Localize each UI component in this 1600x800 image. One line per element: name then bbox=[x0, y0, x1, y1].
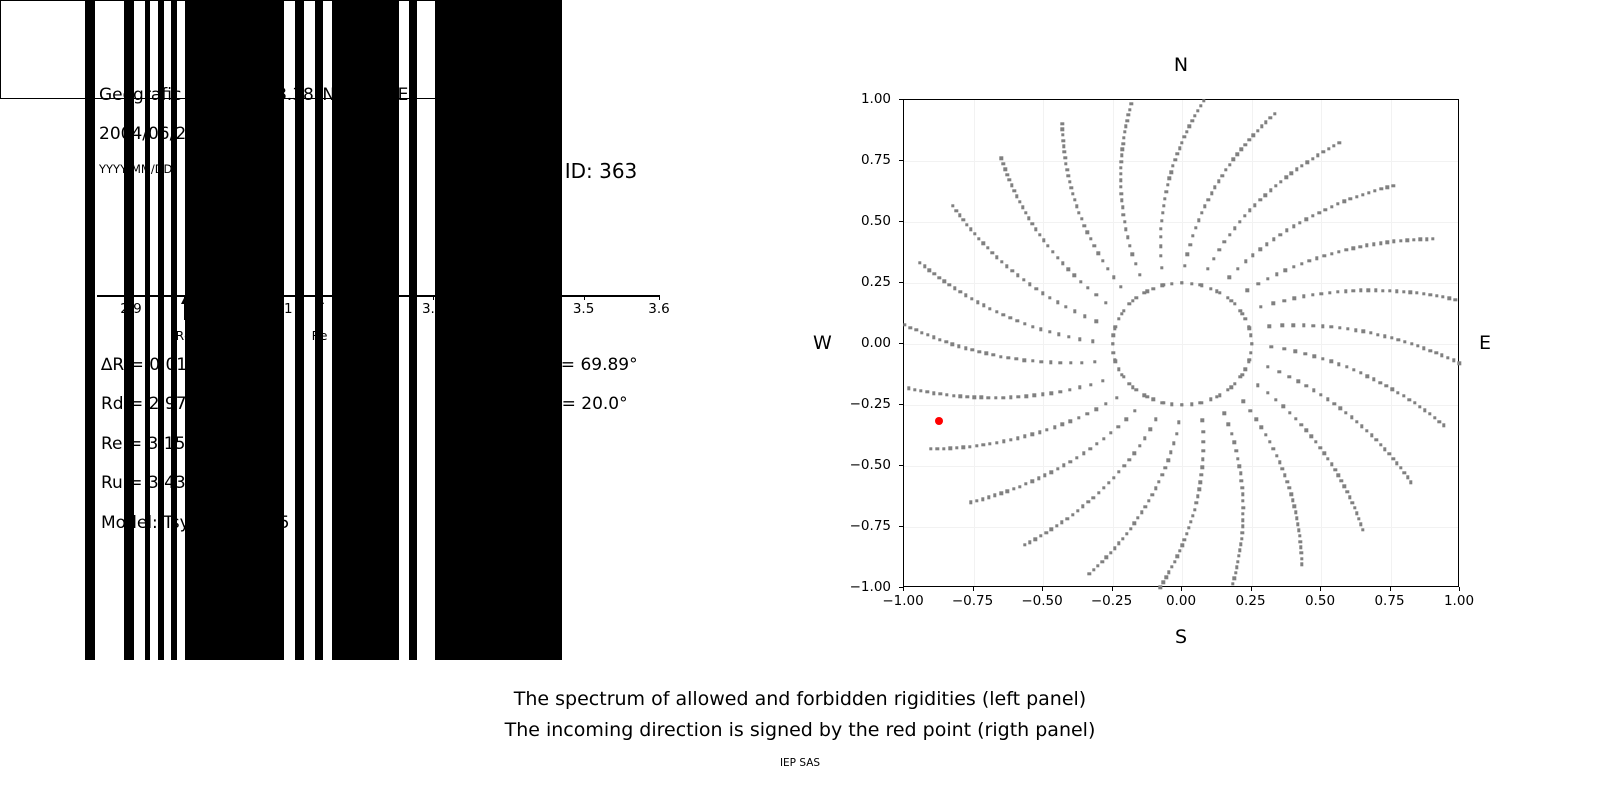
scatter-point bbox=[1199, 104, 1202, 107]
scatter-point bbox=[1031, 359, 1034, 362]
scatter-point bbox=[1202, 99, 1205, 102]
scatter-point bbox=[1318, 446, 1321, 449]
scatter-point bbox=[1041, 393, 1044, 396]
scatter-point bbox=[1115, 396, 1118, 399]
spectrum-tick bbox=[433, 295, 434, 300]
incoming-direction-point bbox=[935, 417, 943, 425]
scatter-point bbox=[1431, 237, 1434, 240]
scatter-point bbox=[1319, 292, 1322, 295]
scatter-point bbox=[1094, 293, 1097, 296]
scatter-point bbox=[1066, 517, 1069, 520]
scatter-point bbox=[949, 447, 952, 450]
scatter-point bbox=[1180, 281, 1183, 284]
scatter-point bbox=[1197, 218, 1200, 221]
caption-line-1: The spectrum of allowed and forbidden ri… bbox=[0, 688, 1600, 710]
scatter-point bbox=[1000, 157, 1003, 160]
scatter-point bbox=[1171, 164, 1174, 167]
scatter-point bbox=[1068, 388, 1071, 391]
scatter-point bbox=[918, 261, 921, 264]
scatter-point bbox=[1168, 177, 1171, 180]
parameter-text: θ = 69.89° bbox=[545, 355, 638, 375]
scatter-point bbox=[1395, 290, 1398, 293]
scatter-point bbox=[1006, 490, 1009, 493]
scatter-point bbox=[975, 499, 978, 502]
scatter-point bbox=[1123, 220, 1126, 223]
scatter-point bbox=[1370, 434, 1373, 437]
scatter-point bbox=[1313, 354, 1316, 357]
scatter-point bbox=[1311, 157, 1314, 160]
forbidden-band bbox=[145, 0, 150, 99]
scatter-point bbox=[1298, 534, 1301, 537]
scatter-point bbox=[1288, 375, 1291, 378]
scatter-point bbox=[1383, 334, 1386, 337]
scatter-point bbox=[1226, 296, 1229, 299]
scatter-point bbox=[1078, 386, 1081, 389]
scatter-point bbox=[943, 280, 946, 283]
scatter-point bbox=[1176, 152, 1179, 155]
scatter-point bbox=[936, 447, 939, 450]
scatter-point bbox=[1290, 172, 1293, 175]
scatter-point bbox=[971, 348, 974, 351]
forbidden-band bbox=[295, 0, 304, 99]
scatter-point bbox=[1244, 368, 1247, 371]
scatter-point bbox=[1379, 443, 1382, 446]
forbidden-band bbox=[85, 0, 95, 99]
scatter-point bbox=[968, 445, 971, 448]
scatter-point bbox=[1154, 487, 1157, 490]
scatter-point bbox=[1196, 109, 1199, 112]
scatter-point bbox=[1406, 476, 1409, 479]
scatter-point bbox=[1226, 388, 1229, 391]
scatter-point bbox=[1239, 472, 1242, 475]
scatter-point bbox=[1023, 358, 1026, 361]
scatter-point bbox=[1080, 217, 1083, 220]
scatter-point bbox=[1233, 302, 1236, 305]
scatter-point bbox=[1114, 359, 1117, 362]
scatter-point bbox=[958, 214, 961, 217]
scatter-point bbox=[1269, 116, 1272, 119]
scatter-point bbox=[1232, 158, 1235, 161]
scatter-point bbox=[1202, 449, 1205, 452]
scatter-point bbox=[1042, 239, 1045, 242]
scatter-point bbox=[1359, 289, 1362, 292]
scatter-point bbox=[1369, 331, 1372, 334]
scatter-point bbox=[1079, 280, 1082, 283]
scatter-point bbox=[1266, 391, 1269, 394]
scatter-point bbox=[1266, 365, 1269, 368]
scatter-point bbox=[1060, 521, 1063, 524]
scatter-point bbox=[1053, 425, 1056, 428]
scatter-point bbox=[945, 393, 948, 396]
scatter-point bbox=[1209, 287, 1212, 290]
scatter-point bbox=[1388, 289, 1391, 292]
scatter-point bbox=[1061, 262, 1064, 265]
scatter-point bbox=[1402, 394, 1405, 397]
scatter-point bbox=[1446, 356, 1449, 359]
scatter-point bbox=[1338, 326, 1341, 329]
scatter-point bbox=[1112, 275, 1115, 278]
scatter-point bbox=[1034, 228, 1037, 231]
scatter-point bbox=[1298, 221, 1301, 224]
scatter-point bbox=[1232, 441, 1235, 444]
scatter-point bbox=[1151, 493, 1154, 496]
scatter-point bbox=[1305, 384, 1308, 387]
scatter-point bbox=[1056, 301, 1059, 304]
scatter-point bbox=[1170, 565, 1173, 568]
scatter-point bbox=[1383, 448, 1386, 451]
scatter-point bbox=[1173, 560, 1176, 563]
scatter-point bbox=[1183, 135, 1186, 138]
scatter-point bbox=[1291, 499, 1294, 502]
scatter-point bbox=[1140, 511, 1143, 514]
scatter-point bbox=[1180, 544, 1183, 547]
scatter-point bbox=[1071, 513, 1074, 516]
scatter-point bbox=[955, 446, 958, 449]
scatter-point bbox=[1087, 500, 1090, 503]
scatter-point bbox=[1023, 543, 1026, 546]
scatter-point bbox=[1422, 347, 1425, 350]
scatter-point bbox=[957, 344, 960, 347]
scatter-point bbox=[923, 265, 926, 268]
scatter-point bbox=[1024, 482, 1027, 485]
gridline-horizontal bbox=[904, 161, 1458, 162]
x-axis-tick-label: 0.50 bbox=[1305, 593, 1335, 609]
scatter-point bbox=[1131, 253, 1134, 256]
scatter-point bbox=[953, 287, 956, 290]
scatter-point bbox=[1355, 420, 1358, 423]
scatter-point bbox=[1278, 370, 1281, 373]
scatter-point bbox=[951, 204, 954, 207]
scatter-point bbox=[1323, 254, 1326, 257]
scatter-point bbox=[1375, 438, 1378, 441]
scatter-point bbox=[1097, 491, 1100, 494]
scatter-point bbox=[1294, 349, 1297, 352]
gridline-horizontal bbox=[904, 344, 1458, 345]
scatter-point bbox=[976, 300, 979, 303]
scatter-point bbox=[1044, 531, 1047, 534]
scatter-point bbox=[1076, 509, 1079, 512]
scatter-point bbox=[1127, 113, 1130, 116]
scatter-point bbox=[1300, 551, 1303, 554]
scatter-point bbox=[955, 209, 958, 212]
scatter-point bbox=[1159, 254, 1162, 257]
scatter-point bbox=[975, 444, 978, 447]
scatter-point bbox=[1114, 325, 1117, 328]
scatter-point bbox=[1094, 408, 1097, 411]
scatter-point bbox=[1294, 417, 1297, 420]
scatter-point bbox=[1236, 457, 1239, 460]
scatter-point bbox=[1374, 289, 1377, 292]
scatter-point bbox=[1338, 141, 1341, 144]
scatter-point bbox=[973, 232, 976, 235]
scatter-point bbox=[1119, 166, 1122, 169]
scatter-point bbox=[1082, 452, 1085, 455]
scatter-point bbox=[1092, 568, 1095, 571]
scatter-point bbox=[1096, 252, 1099, 255]
scatter-point bbox=[1018, 485, 1021, 488]
scatter-point bbox=[1059, 390, 1062, 393]
x-axis-tick bbox=[1459, 587, 1460, 591]
scatter-point bbox=[1109, 551, 1112, 554]
scatter-point bbox=[1122, 309, 1125, 312]
scatter-point bbox=[1330, 325, 1333, 328]
scatter-point bbox=[1397, 338, 1400, 341]
rigidity-spectrum-bar bbox=[0, 0, 562, 99]
scatter-point bbox=[1122, 136, 1125, 139]
scatter-point bbox=[1300, 557, 1303, 560]
parameter-text: Rd = 2.97 GV bbox=[101, 394, 217, 414]
scatter-point bbox=[1124, 125, 1127, 128]
scatter-point bbox=[1322, 150, 1325, 153]
scatter-point bbox=[1213, 185, 1216, 188]
scatter-point bbox=[1138, 444, 1141, 447]
scatter-point bbox=[1361, 193, 1364, 196]
scatter-point bbox=[1412, 238, 1415, 241]
scatter-point bbox=[1379, 241, 1382, 244]
scatter-point bbox=[1092, 496, 1095, 499]
scatter-point bbox=[1350, 415, 1353, 418]
scatter-point bbox=[1024, 211, 1027, 214]
scatter-point bbox=[1125, 532, 1128, 535]
scatter-point bbox=[1256, 282, 1259, 285]
scatter-point bbox=[1201, 466, 1204, 469]
scatter-point bbox=[944, 340, 947, 343]
scatter-point bbox=[1224, 168, 1227, 171]
spectrum-tick bbox=[584, 295, 585, 300]
scatter-point bbox=[1159, 227, 1162, 230]
scatter-point bbox=[1064, 305, 1067, 308]
y-axis-tick-label: −1.00 bbox=[850, 579, 891, 595]
scatter-point bbox=[1061, 128, 1064, 131]
scatter-point bbox=[1073, 198, 1076, 201]
scatter-point bbox=[1279, 233, 1282, 236]
scatter-point bbox=[1210, 192, 1213, 195]
scatter-point bbox=[1376, 333, 1379, 336]
scatter-point bbox=[1326, 457, 1329, 460]
scatter-point bbox=[1063, 156, 1066, 159]
scatter-point bbox=[1239, 543, 1242, 546]
scatter-point bbox=[1164, 466, 1167, 469]
scatter-point bbox=[990, 251, 993, 254]
scatter-point bbox=[1009, 438, 1012, 441]
scatter-point bbox=[1240, 531, 1243, 534]
scatter-point bbox=[1058, 361, 1061, 364]
scatter-point bbox=[1264, 121, 1267, 124]
scatter-point bbox=[1272, 302, 1275, 305]
scatter-point bbox=[1043, 474, 1046, 477]
scatter-point bbox=[1241, 525, 1244, 528]
scatter-point bbox=[1403, 471, 1406, 474]
scatter-point bbox=[1128, 382, 1131, 385]
scatter-point bbox=[1386, 185, 1389, 188]
scatter-point bbox=[1085, 412, 1088, 415]
scatter-point bbox=[1015, 195, 1018, 198]
scatter-point bbox=[1279, 180, 1282, 183]
scatter-point bbox=[1272, 447, 1275, 450]
scatter-point bbox=[1299, 546, 1302, 549]
scatter-point bbox=[1302, 295, 1305, 298]
scatter-point bbox=[1061, 122, 1064, 125]
scatter-point bbox=[1409, 291, 1412, 294]
scatter-point bbox=[1112, 476, 1115, 479]
scatter-point bbox=[948, 283, 951, 286]
scatter-point bbox=[1077, 211, 1080, 214]
scatter-point bbox=[1240, 486, 1243, 489]
scatter-point bbox=[1354, 328, 1357, 331]
scatter-point bbox=[1160, 266, 1163, 269]
scatter-point bbox=[1260, 125, 1263, 128]
scatter-point bbox=[942, 447, 945, 450]
y-axis-tick-label: −0.75 bbox=[850, 518, 891, 534]
scatter-point bbox=[1292, 297, 1295, 300]
scatter-point bbox=[1282, 405, 1285, 408]
scatter-point bbox=[1169, 450, 1172, 453]
scatter-point bbox=[903, 323, 906, 326]
scatter-point bbox=[1039, 328, 1042, 331]
scatter-point bbox=[1281, 467, 1284, 470]
scatter-point bbox=[1337, 363, 1340, 366]
spectrum-tick-label: 2.9 bbox=[120, 301, 141, 317]
scatter-point bbox=[1228, 163, 1231, 166]
scatter-point bbox=[1035, 287, 1038, 290]
scatter-point bbox=[1270, 345, 1273, 348]
scatter-point bbox=[1266, 277, 1269, 280]
scatter-point bbox=[1104, 402, 1107, 405]
scatter-point bbox=[1119, 172, 1122, 175]
scatter-point bbox=[1328, 291, 1331, 294]
scatter-point bbox=[928, 268, 931, 271]
scatter-point bbox=[1302, 324, 1305, 327]
scatter-point bbox=[1138, 273, 1141, 276]
scatter-point bbox=[1000, 260, 1003, 263]
scatter-point bbox=[1251, 253, 1254, 256]
scatter-point bbox=[1158, 586, 1161, 589]
scatter-point bbox=[1344, 411, 1347, 414]
scatter-point bbox=[1128, 108, 1131, 111]
compass-label-south: S bbox=[1175, 626, 1187, 648]
scatter-point bbox=[1013, 189, 1016, 192]
scatter-point bbox=[1332, 144, 1335, 147]
scatter-point bbox=[1041, 292, 1044, 295]
scatter-point bbox=[982, 443, 985, 446]
scatter-point bbox=[964, 294, 967, 297]
scatter-point bbox=[992, 353, 995, 356]
scatter-point bbox=[1016, 274, 1019, 277]
marker-arrow-rd bbox=[184, 296, 186, 320]
scatter-point bbox=[970, 297, 973, 300]
scatter-point bbox=[965, 223, 968, 226]
scatter-point bbox=[1004, 167, 1007, 170]
scatter-point bbox=[1295, 517, 1298, 520]
scatter-point bbox=[1078, 337, 1081, 340]
scatter-point bbox=[966, 395, 969, 398]
scatter-point bbox=[1195, 501, 1198, 504]
spectrum-tick-label: 3.6 bbox=[648, 301, 669, 317]
scatter-point bbox=[1399, 466, 1402, 469]
parameter-text: Ru = 3.43 GV bbox=[101, 473, 216, 493]
scatter-point bbox=[1131, 299, 1134, 302]
scatter-point bbox=[1151, 398, 1154, 401]
scatter-point bbox=[1050, 391, 1053, 394]
y-axis-tick-label: −0.50 bbox=[850, 457, 891, 473]
scatter-point bbox=[1128, 302, 1131, 305]
scatter-point bbox=[909, 326, 912, 329]
scatter-point bbox=[959, 290, 962, 293]
scatter-point bbox=[1069, 419, 1072, 422]
scatter-point bbox=[1010, 184, 1013, 187]
scatter-point bbox=[1111, 342, 1114, 345]
scatter-point bbox=[1061, 133, 1064, 136]
scatter-point bbox=[1196, 495, 1199, 498]
scatter-point bbox=[995, 255, 998, 258]
scatter-point bbox=[1038, 233, 1041, 236]
x-axis-tick bbox=[1251, 587, 1252, 591]
scatter-point bbox=[1201, 458, 1204, 461]
scatter-point bbox=[1149, 428, 1152, 431]
scatter-point bbox=[1188, 124, 1191, 127]
scatter-point bbox=[1243, 214, 1246, 217]
scatter-point bbox=[1264, 193, 1267, 196]
scatter-point bbox=[1057, 333, 1060, 336]
scatter-point bbox=[1068, 180, 1071, 183]
x-axis-tick bbox=[1320, 587, 1321, 591]
scatter-point bbox=[1107, 481, 1110, 484]
scatter-point bbox=[1102, 437, 1105, 440]
scatter-point bbox=[1031, 325, 1034, 328]
x-axis-tick bbox=[1181, 587, 1182, 591]
scatter-point bbox=[1351, 501, 1354, 504]
scatter-point bbox=[1160, 473, 1163, 476]
scatter-point bbox=[969, 501, 972, 504]
scatter-point bbox=[1244, 317, 1247, 320]
scatter-point bbox=[1031, 222, 1034, 225]
rigidity-spectrum-panel: Geografic position: 48.38°N 21.43°E 2004… bbox=[0, 0, 760, 660]
scatter-point bbox=[1441, 295, 1444, 298]
scatter-point bbox=[1372, 378, 1375, 381]
scatter-point bbox=[1352, 289, 1355, 292]
scatter-point bbox=[1418, 405, 1421, 408]
scatter-point bbox=[1321, 324, 1324, 327]
scatter-point bbox=[1392, 240, 1395, 243]
spectrum-tick-label: 3.3 bbox=[422, 301, 443, 317]
scatter-point bbox=[1278, 461, 1281, 464]
scatter-point bbox=[1330, 252, 1333, 255]
scatter-point bbox=[1428, 349, 1431, 352]
scatter-point bbox=[1386, 241, 1389, 244]
y-axis-tick-label: 1.00 bbox=[861, 91, 891, 107]
scatter-point bbox=[1314, 440, 1317, 443]
x-axis-tick bbox=[1042, 587, 1043, 591]
scatter-point bbox=[1164, 576, 1167, 579]
scatter-point bbox=[1235, 449, 1238, 452]
y-axis-tick-label: 0.50 bbox=[861, 213, 891, 229]
scatter-point bbox=[1191, 514, 1194, 517]
scatter-point bbox=[1282, 299, 1285, 302]
scatter-point bbox=[1002, 440, 1005, 443]
scatter-point bbox=[1122, 375, 1125, 378]
scatter-point bbox=[1300, 164, 1303, 167]
scatter-point bbox=[1048, 296, 1051, 299]
scatter-point bbox=[1256, 384, 1259, 387]
scatter-point bbox=[977, 350, 980, 353]
scatter-point bbox=[1408, 398, 1411, 401]
parameter-text: Model: Tsyganenko 05 bbox=[101, 513, 290, 533]
scatter-point bbox=[1344, 248, 1347, 251]
scatter-point bbox=[988, 442, 991, 445]
scatter-point bbox=[1126, 236, 1129, 239]
scatter-point bbox=[1067, 335, 1070, 338]
scatter-point bbox=[1162, 581, 1165, 584]
